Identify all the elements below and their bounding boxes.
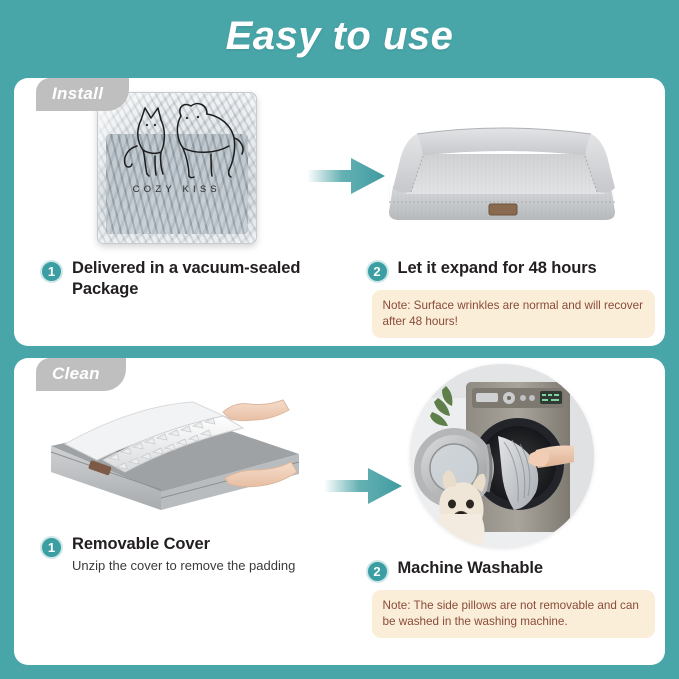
install-step-2-row: 2 Let it expand for 48 hours <box>340 258 666 283</box>
step-number-badge: 1 <box>40 536 63 559</box>
washer-photo-illustration <box>410 364 594 548</box>
step-number-badge: 1 <box>40 260 63 283</box>
dog-bed-image <box>377 78 627 244</box>
package-brand-text: COZY KISS <box>97 184 257 195</box>
section-tag-install: Install <box>36 78 129 111</box>
page-title: Easy to use <box>226 14 454 59</box>
clean-note: Note: The side pillows are not removable… <box>372 590 656 638</box>
install-step-2-column: 2 Let it expand for 48 hours Note: Surfa… <box>340 78 666 346</box>
step-title: Delivered in a vacuum-sealed Package <box>72 258 326 300</box>
step-number-badge: 2 <box>366 560 389 583</box>
page-header: Easy to use <box>0 0 679 72</box>
section-tag-clean: Clean <box>36 358 126 391</box>
step-number-badge: 2 <box>366 260 389 283</box>
right-arrow-icon <box>307 155 385 197</box>
clean-section-card: Clean <box>14 358 665 665</box>
clean-step-2-column: 2 Machine Washable Note: The side pillow… <box>340 358 666 665</box>
step-title: Let it expand for 48 hours <box>398 258 652 279</box>
install-step-1-column: COZY KISS 1 Delivered in a vacuum-sealed… <box>14 78 340 346</box>
cat-dog-line-art-icon <box>103 96 253 192</box>
clean-step-2-row: 2 Machine Washable <box>340 558 666 583</box>
step-title: Removable Cover <box>72 534 326 555</box>
dog-bed-illustration <box>377 94 627 244</box>
step-subtitle: Unzip the cover to remove the padding <box>72 558 326 575</box>
clean-step-1-column: 1 Removable Cover Unzip the cover to rem… <box>14 358 340 665</box>
install-note: Note: Surface wrinkles are normal and wi… <box>372 290 656 338</box>
right-arrow-icon <box>324 465 402 507</box>
washing-machine-image <box>410 358 594 548</box>
step-title: Machine Washable <box>398 558 652 579</box>
install-section-card: Install <box>14 78 665 346</box>
clean-step-1-row: 1 Removable Cover Unzip the cover to rem… <box>14 534 340 575</box>
install-step-1-row: 1 Delivered in a vacuum-sealed Package <box>14 258 340 300</box>
